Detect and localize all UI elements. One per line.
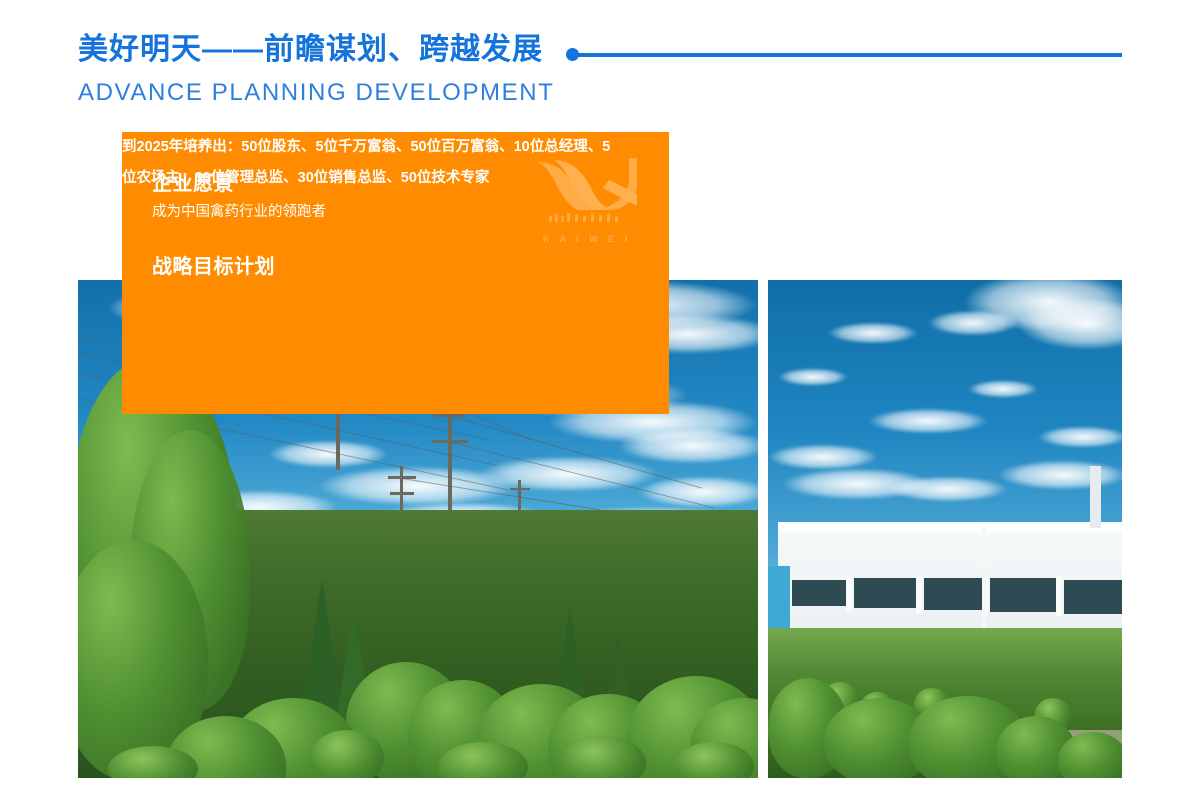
page-header: 美好明天——前瞻谋划、跨越发展 ADVANCE PLANNING DEVELOP…: [0, 0, 1200, 120]
photo-office-building-view: [768, 280, 1122, 778]
vision-title: 企业愿景: [152, 167, 234, 196]
page-subtitle: ADVANCE PLANNING DEVELOPMENT: [78, 77, 554, 109]
page-title: 美好明天——前瞻谋划、跨越发展: [78, 30, 543, 70]
vision-and-goals-panel: K A I W E I 企业愿景 成为中国禽药行业的领跑者 战略目标计划 到20…: [122, 132, 669, 414]
header-divider-line: [576, 53, 1122, 57]
vision-text: 成为中国禽药行业的领跑者: [152, 200, 326, 221]
kaiwei-logo-icon: K A I W E I: [533, 154, 641, 246]
logo-wordmark: K A I W E I: [533, 234, 641, 244]
goal-title: 战略目标计划: [152, 250, 275, 279]
